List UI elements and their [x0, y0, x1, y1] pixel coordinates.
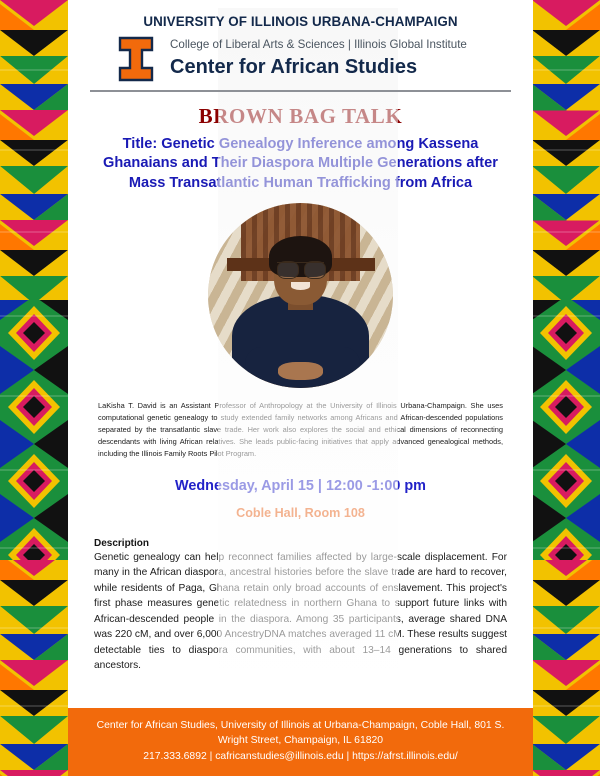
event-datetime: Wednesday, April 15 | 12:00 -1:00 pm: [68, 478, 533, 494]
footer-contact[interactable]: 217.333.6892 | cafricanstudies@illinois.…: [68, 748, 533, 765]
footer-address: Center for African Studies, University o…: [68, 719, 533, 749]
flyer-footer: Center for African Studies, University o…: [68, 708, 533, 776]
photo-smile: [291, 282, 310, 289]
illinois-i-block-icon: [116, 36, 156, 82]
photo-hands: [278, 362, 322, 381]
brown-bag-talk-kicker: BROWN BAG TALK: [68, 104, 533, 129]
i-block-svg: [116, 36, 156, 82]
description-body: Genetic genealogy can help reconnect fam…: [94, 550, 507, 674]
college-line: College of Liberal Arts & Sciences | Ill…: [170, 38, 467, 52]
content-page: UNIVERSITY OF ILLINOIS URBANA-CHAMPAIGN …: [68, 0, 533, 776]
kente-border-right: [532, 0, 600, 776]
header-divider: [90, 90, 511, 92]
kente-pattern-icon: [532, 0, 600, 776]
description-heading: Description: [94, 538, 507, 549]
university-name: UNIVERSITY OF ILLINOIS URBANA-CHAMPAIGN: [68, 14, 533, 30]
kente-pattern-icon: [0, 0, 68, 776]
poster-flyer: UNIVERSITY OF ILLINOIS URBANA-CHAMPAIGN …: [0, 0, 600, 776]
speaker-portrait: [208, 203, 393, 388]
speaker-bio: LaKisha T. David is an Assistant Profess…: [98, 400, 503, 460]
photo-glasses-bridge: [277, 262, 323, 276]
center-name: Center for African Studies: [170, 56, 417, 78]
event-location: Coble Hall, Room 108: [68, 506, 533, 520]
logo-row: College of Liberal Arts & Sciences | Ill…: [86, 34, 533, 86]
speaker-photo-wrap: [68, 203, 533, 388]
flyer-header: UNIVERSITY OF ILLINOIS URBANA-CHAMPAIGN …: [68, 0, 533, 92]
kente-border-left: [0, 0, 68, 776]
talk-title: Title: Genetic Genealogy Inference among…: [84, 135, 517, 193]
